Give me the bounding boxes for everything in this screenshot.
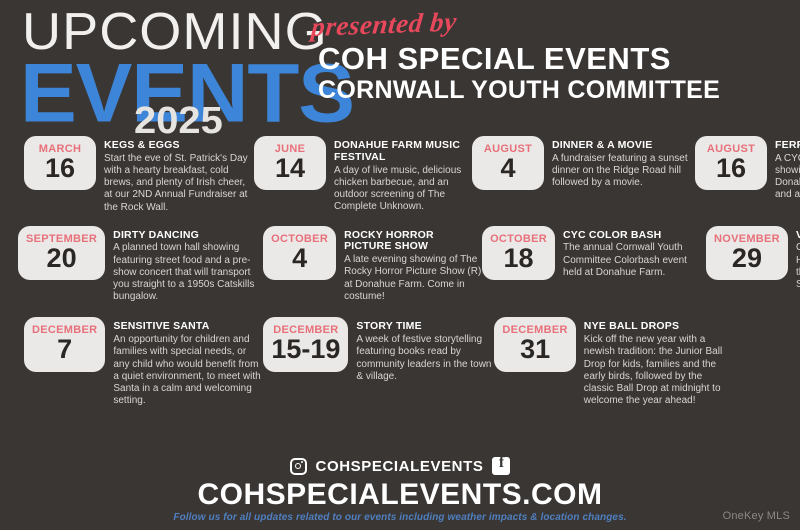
event-date-card: MARCH 16 (24, 136, 96, 190)
event-description: A day of live music, delicious chicken b… (334, 165, 472, 214)
event-date-card: DECEMBER 15-19 (263, 317, 348, 371)
event-item[interactable]: DECEMBER 31 NYE BALL DROPS Kick off the … (494, 317, 726, 407)
event-day: 16 (703, 154, 759, 182)
presented-by-label: presented by (310, 0, 797, 41)
organization-subname: CORNWALL YOUTH COMMITTEE (318, 77, 792, 103)
event-day: 18 (490, 244, 547, 272)
events-row: MARCH 16 KEGS & EGGS Start the eve of St… (0, 136, 800, 214)
event-description: The annual Cornwall Youth Committee Colo… (563, 242, 706, 279)
event-day: 16 (32, 154, 88, 182)
event-title: DONAHUE FARM MUSIC FESTIVAL (334, 140, 472, 164)
event-title: SENSITIVE SANTA (113, 321, 263, 333)
event-text: KEGS & EGGS Start the eve of St. Patrick… (104, 136, 254, 214)
event-description: An opportunity for children and families… (113, 334, 263, 407)
event-date-card: JUNE 14 (254, 136, 326, 190)
event-date-card: SEPTEMBER 20 (18, 226, 105, 280)
events-row: DECEMBER 7 SENSITIVE SANTA An opportunit… (0, 317, 800, 407)
event-date-card: NOVEMBER 29 (706, 226, 788, 280)
website-url[interactable]: COHSPECIALEVENTS.COM (0, 479, 800, 511)
event-item[interactable]: OCTOBER 4 ROCKY HORROR PICTURE SHOW A la… (263, 226, 482, 303)
event-description: A late evening showing of The Rocky Horr… (344, 254, 482, 303)
event-description: A week of festive storytelling featuring… (356, 334, 494, 383)
event-description: Kick off the new year with a newish trad… (584, 334, 727, 407)
event-text: NYE BALL DROPS Kick off the new year wit… (584, 317, 727, 407)
event-day: 4 (480, 154, 536, 182)
event-title: DIRTY DANCING (113, 230, 263, 242)
event-day: 31 (502, 335, 567, 363)
event-text: FERRIS BUELLER A CYC Fundraiser featurin… (775, 136, 800, 202)
poster-footer: COHSPECIALEVENTS COHSPECIALEVENTS.COM Fo… (0, 452, 800, 530)
event-title: ROCKY HORROR PICTURE SHOW (344, 230, 482, 254)
event-item[interactable]: OCTOBER 18 CYC COLOR BASH The annual Cor… (482, 226, 706, 280)
event-item[interactable]: DECEMBER 15-19 STORY TIME A week of fest… (263, 317, 494, 383)
event-day: 7 (32, 335, 97, 363)
event-item[interactable]: JUNE 14 DONAHUE FARM MUSIC FESTIVAL A da… (254, 136, 472, 213)
event-item[interactable]: MARCH 16 KEGS & EGGS Start the eve of St… (24, 136, 254, 214)
event-title: KEGS & EGGS (104, 140, 254, 152)
event-day: 4 (271, 244, 328, 272)
event-item[interactable]: DECEMBER 7 SENSITIVE SANTA An opportunit… (24, 317, 263, 407)
event-date-card: DECEMBER 7 (24, 317, 105, 371)
watermark: OneKey MLS (723, 510, 790, 522)
event-title: DINNER & A MOVIE (552, 140, 695, 152)
facebook-icon[interactable] (492, 457, 510, 475)
event-text: DINNER & A MOVIE A fundraiser featuring … (552, 136, 695, 189)
poster-header: UPCOMING EVENTS 2025 presented by COH SP… (0, 0, 800, 133)
footer-tagline: Follow us for all updates related to our… (0, 512, 800, 523)
event-title: VILLAGE TREE LIGHTING (796, 230, 800, 242)
event-day: 29 (714, 244, 780, 272)
event-title: FERRIS BUELLER (775, 140, 800, 152)
event-text: DONAHUE FARM MUSIC FESTIVAL A day of liv… (334, 136, 472, 213)
event-day: 20 (26, 244, 97, 272)
event-text: ROCKY HORROR PICTURE SHOW A late evening… (344, 226, 482, 303)
events-grid: MARCH 16 KEGS & EGGS Start the eve of St… (0, 136, 800, 407)
header-org-block: presented by COH SPECIAL EVENTS CORNWALL… (290, 14, 792, 103)
event-date-card: OCTOBER 4 (263, 226, 336, 280)
event-text: VILLAGE TREE LIGHTING Our annual "Home f… (796, 226, 800, 292)
event-description: Start the eve of St. Patrick's Day with … (104, 153, 254, 214)
event-title: NYE BALL DROPS (584, 321, 727, 333)
events-row: SEPTEMBER 20 DIRTY DANCING A planned tow… (0, 226, 800, 304)
event-item[interactable]: SEPTEMBER 20 DIRTY DANCING A planned tow… (18, 226, 263, 304)
event-title: STORY TIME (356, 321, 494, 333)
instagram-icon[interactable] (290, 458, 307, 475)
event-text: SENSITIVE SANTA An opportunity for child… (113, 317, 263, 407)
event-text: DIRTY DANCING A planned town hall showin… (113, 226, 263, 304)
event-description: Our annual "Home for the Holiday's" even… (796, 242, 800, 291)
event-description: A CYC Fundraiser featuring showing of Fe… (775, 153, 800, 202)
event-item[interactable]: AUGUST 4 DINNER & A MOVIE A fundraiser f… (472, 136, 695, 190)
event-date-card: AUGUST 4 (472, 136, 544, 190)
organization-name: COH SPECIAL EVENTS (318, 43, 792, 76)
event-item[interactable]: NOVEMBER 29 VILLAGE TREE LIGHTING Our an… (706, 226, 800, 292)
event-day: 14 (262, 154, 318, 182)
events-heading-wrap: EVENTS 2025 (18, 52, 318, 130)
event-description: A planned town hall showing featuring st… (113, 242, 263, 303)
event-text: CYC COLOR BASH The annual Cornwall Youth… (563, 226, 706, 279)
event-item[interactable]: AUGUST 16 FERRIS BUELLER A CYC Fundraise… (695, 136, 800, 202)
social-handle: COHSPECIALEVENTS (316, 458, 484, 475)
event-date-card: AUGUST 16 (695, 136, 767, 190)
event-text: STORY TIME A week of festive storytellin… (356, 317, 494, 383)
event-date-card: DECEMBER 31 (494, 317, 575, 371)
event-date-card: OCTOBER 18 (482, 226, 555, 280)
event-description: A fundraiser featuring a sunset dinner o… (552, 153, 695, 190)
header-title-block: UPCOMING EVENTS 2025 (18, 0, 318, 130)
events-poster: UPCOMING EVENTS 2025 presented by COH SP… (0, 0, 800, 530)
event-title: CYC COLOR BASH (563, 230, 706, 242)
social-links: COHSPECIALEVENTS (0, 454, 800, 478)
event-day: 15-19 (271, 335, 340, 363)
